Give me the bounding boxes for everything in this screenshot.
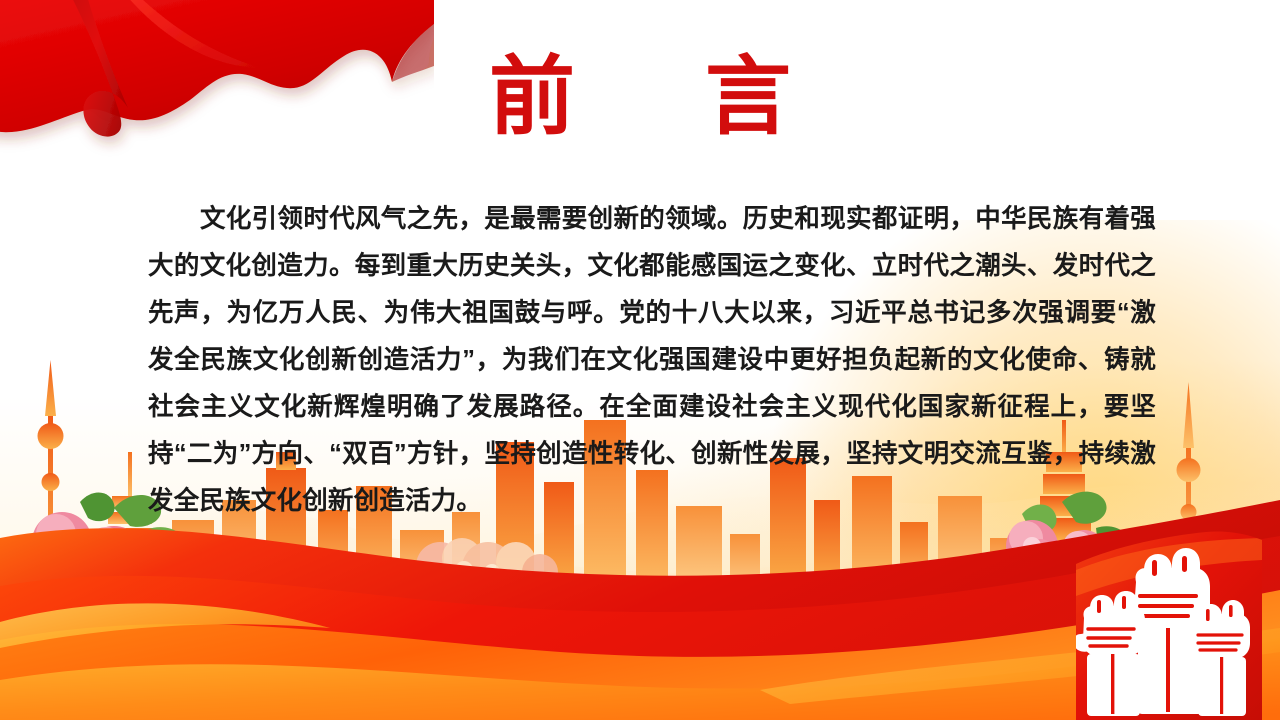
body-paragraph: 文化引领时代风气之先，是最需要创新的领域。历史和现实都证明，中华民族有着强大的文… (148, 196, 1156, 525)
slide-canvas: 前 言 文化引领时代风气之先，是最需要创新的领域。历史和现实都证明，中华民族有着… (0, 0, 1280, 720)
page-title-text: 前 言 (467, 52, 813, 142)
page-title: 前 言 (0, 52, 1280, 142)
raised-fists-icon (1076, 530, 1262, 720)
